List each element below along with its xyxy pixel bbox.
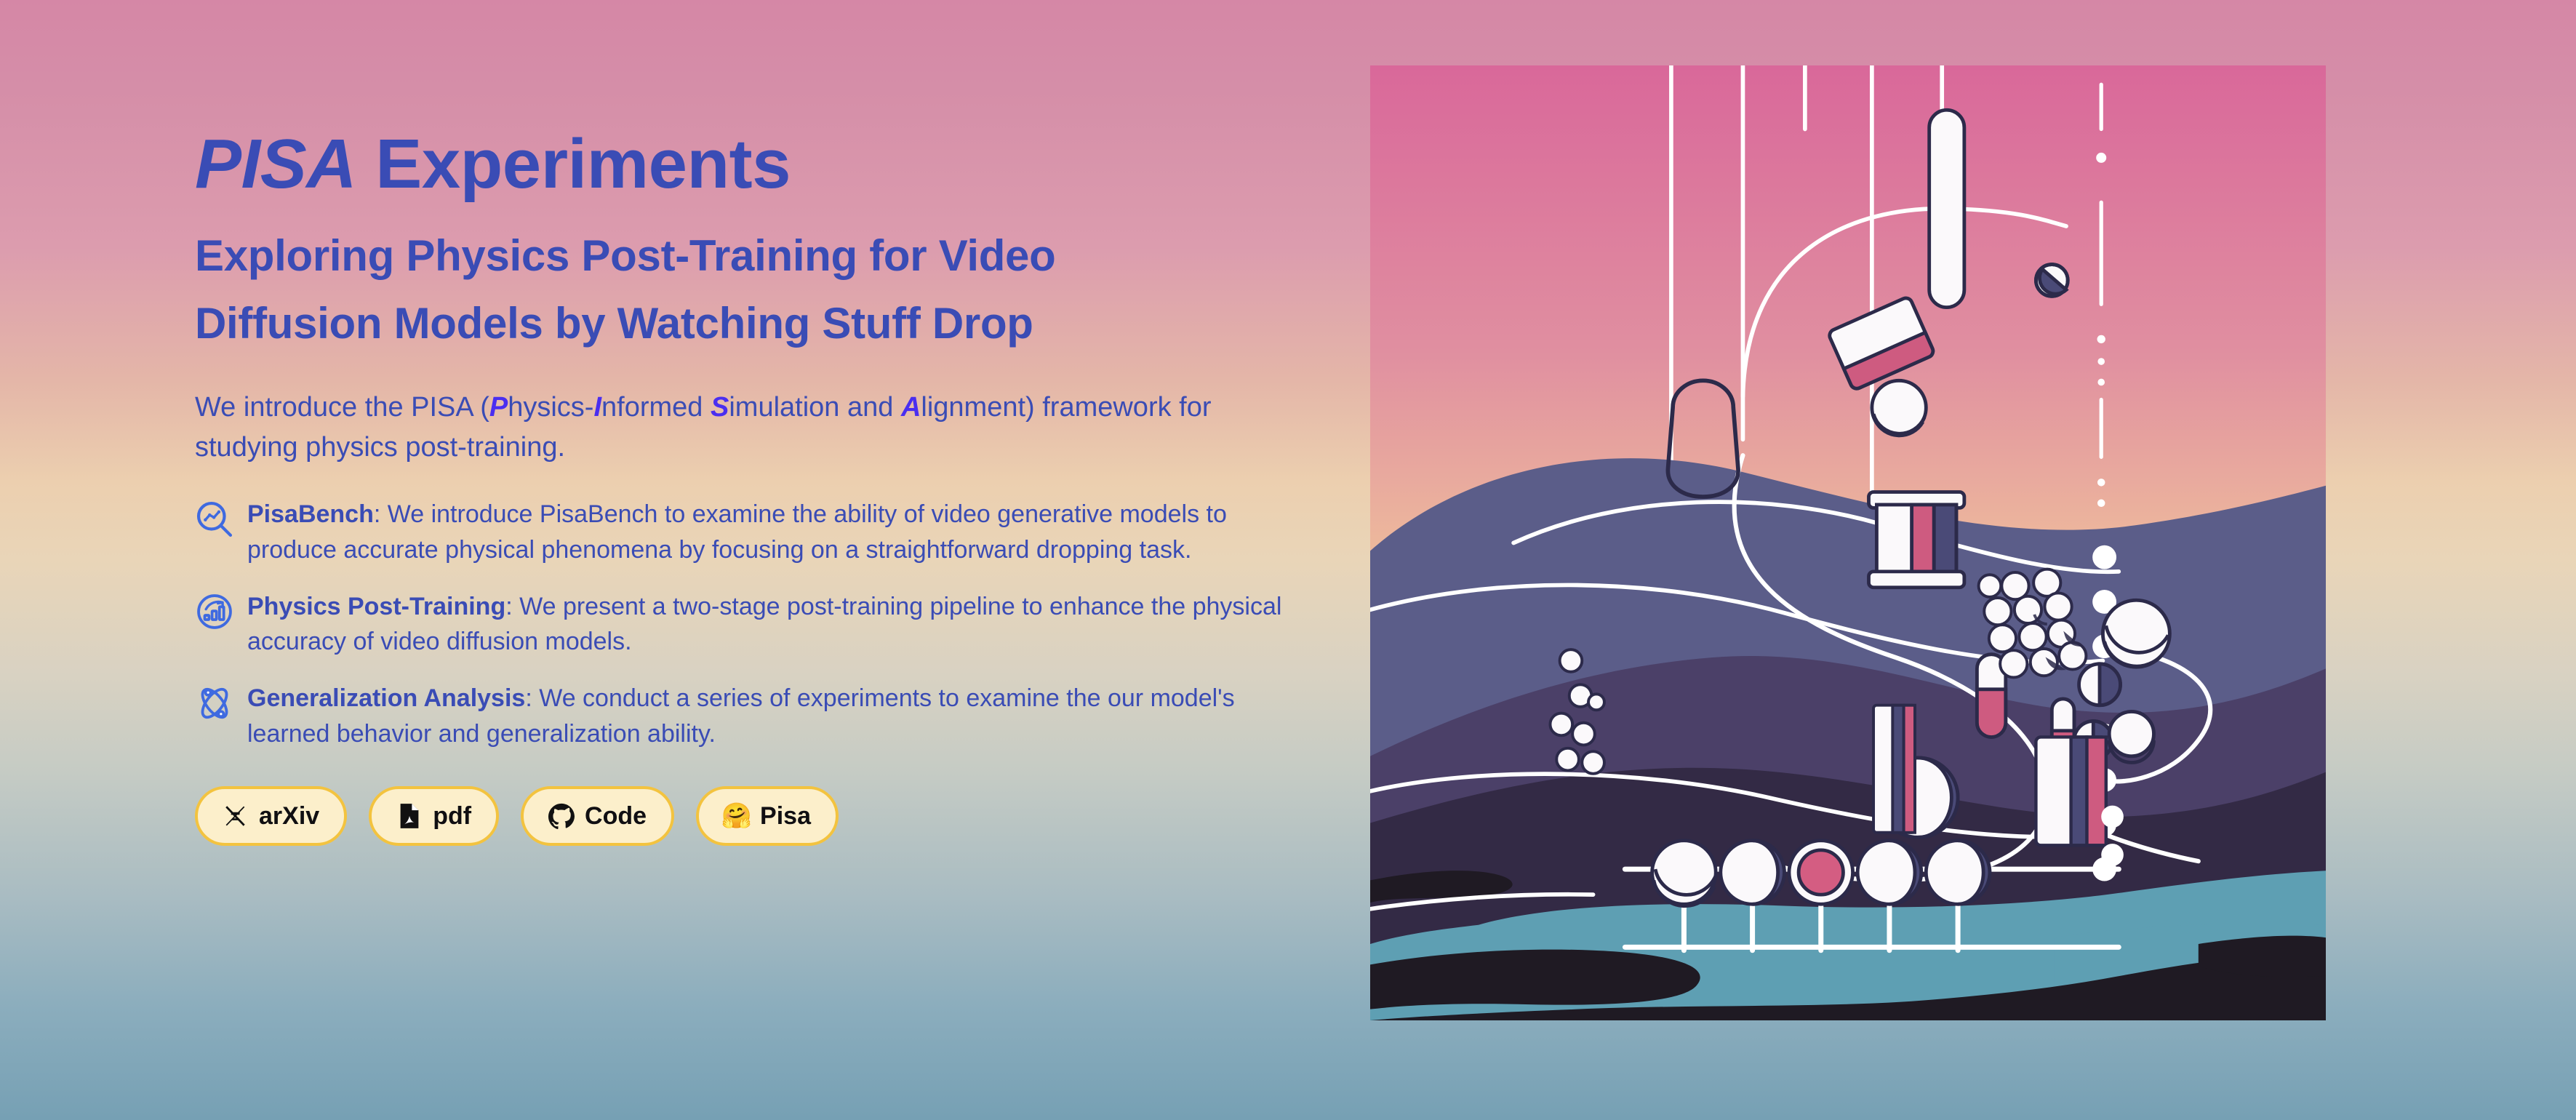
pdf-file-icon: [396, 802, 423, 830]
hugging-face-emoji: 🤗: [724, 802, 750, 830]
page-title: PISA Experiments: [195, 127, 1353, 201]
acronym-letter-p: P: [489, 392, 508, 423]
list-item: Physics Post-Training: We present a two-…: [195, 588, 1308, 660]
list-item-text: Generalization Analysis: We conduct a se…: [247, 679, 1308, 751]
arxiv-button-label: arXiv: [259, 804, 319, 828]
pdf-button[interactable]: pdf: [369, 786, 499, 846]
page-title-emphasis: PISA: [195, 125, 356, 203]
acronym-letter-i: I: [593, 392, 601, 423]
arxiv-button[interactable]: arXiv: [195, 786, 347, 846]
arxiv-x-icon: [223, 802, 249, 830]
list-item-text: Physics Post-Training: We present a two-…: [247, 588, 1308, 660]
falling-objects-physics-artwork: [1370, 65, 2326, 1020]
list-item-lead: PisaBench: [247, 500, 374, 528]
growth-chart-circle-icon: [195, 592, 234, 631]
pisa-huggingface-button[interactable]: 🤗 Pisa: [696, 786, 839, 846]
atom-icon: [195, 684, 234, 723]
list-item-lead: Generalization Analysis: [247, 684, 525, 712]
code-button[interactable]: Code: [521, 786, 674, 846]
acronym-letter-s: S: [711, 392, 729, 423]
code-button-label: Code: [585, 804, 647, 828]
intro-part-2: hysics-: [508, 392, 593, 423]
list-item: PisaBench: We introduce PisaBench to exa…: [195, 495, 1308, 567]
hero-text-column: PISA Experiments Exploring Physics Post-…: [0, 0, 1353, 846]
list-item-lead: Physics Post-Training: [247, 593, 505, 620]
page-title-rest: Experiments: [356, 125, 791, 203]
pisa-button-label: Pisa: [760, 804, 811, 828]
link-button-row: arXiv pdf Code: [195, 786, 1353, 846]
intro-part-3: nformed: [601, 392, 711, 423]
list-item-body: : We introduce PisaBench to examine the …: [247, 500, 1227, 563]
acronym-letter-a: A: [901, 392, 921, 423]
page-subtitle-line-1: Exploring Physics Post-Training for Vide…: [195, 231, 1055, 280]
github-octocat-icon: [548, 802, 575, 830]
list-item-text: PisaBench: We introduce PisaBench to exa…: [247, 495, 1308, 567]
page-subtitle-line-2: Diffusion Models by Watching Stuff Drop: [195, 297, 1235, 350]
list-item: Generalization Analysis: We conduct a se…: [195, 679, 1308, 751]
hero-section: PISA Experiments Exploring Physics Post-…: [0, 0, 2576, 1120]
highlights-list: PisaBench: We introduce PisaBench to exa…: [195, 495, 1353, 751]
intro-part-1: We introduce the PISA (: [195, 392, 489, 423]
pdf-button-label: pdf: [433, 804, 471, 828]
intro-paragraph: We introduce the PISA (Physics-Informed …: [195, 388, 1271, 468]
magnifier-chart-icon: [195, 500, 234, 539]
page-subtitle: Exploring Physics Post-Training for Vide…: [195, 229, 1235, 350]
intro-part-4: imulation and: [729, 392, 901, 423]
